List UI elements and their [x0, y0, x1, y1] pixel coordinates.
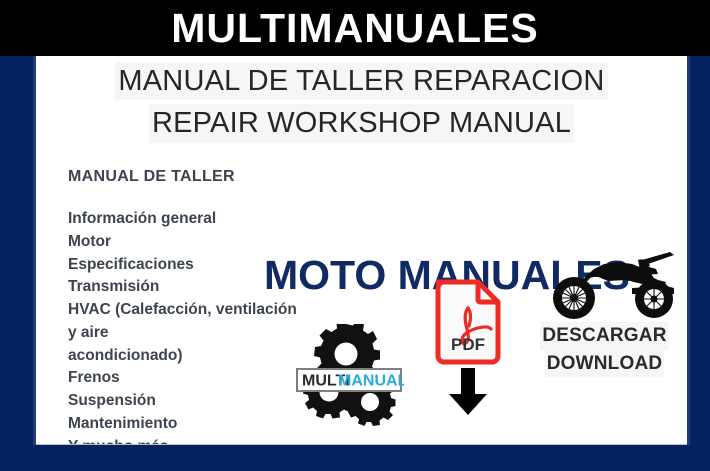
header-band: MULTIMANUALES — [0, 0, 710, 56]
section-heading: MANUAL DE TALLER — [68, 168, 235, 186]
logo-text-manuales: MANUALES — [338, 373, 404, 390]
motorcycle-silhouette-icon — [546, 246, 687, 320]
poster-root: MULTIMANUALES MANUAL DE TALLER REPARACIO… — [0, 0, 710, 471]
brand-title: MULTIMANUALES — [171, 8, 539, 49]
list-item: Información general — [68, 208, 298, 231]
content-card: MANUAL DE TALLER REPARACION REPAIR WORKS… — [36, 56, 687, 444]
download-label-es: DESCARGAR — [540, 322, 668, 350]
download-label-en: DOWNLOAD — [545, 350, 665, 378]
list-item: acondicionado) — [68, 345, 298, 368]
list-item: Suspensión — [68, 390, 298, 413]
frame-bottom-bar — [0, 445, 710, 471]
manual-title-es: MANUAL DE TALLER REPARACION — [115, 62, 607, 100]
list-item: Motor — [68, 231, 298, 254]
list-item: Y mucho más... — [68, 436, 298, 444]
feature-list: Información general Motor Especificacion… — [68, 208, 298, 444]
manual-title-block: MANUAL DE TALLER REPARACION REPAIR WORKS… — [36, 62, 687, 143]
frame-left-bar — [0, 56, 33, 445]
frame-right-divider — [687, 56, 690, 445]
pdf-file-icon[interactable]: PDF — [432, 278, 504, 366]
list-item: Mantenimiento — [68, 413, 298, 436]
download-text-block: DESCARGAR DOWNLOAD — [522, 322, 687, 377]
frame-right-bar — [690, 56, 710, 445]
list-item: Frenos — [68, 367, 298, 390]
manual-title-en: REPAIR WORKSHOP MANUAL — [149, 104, 574, 142]
download-arrow-icon[interactable] — [448, 368, 488, 416]
multimanuales-gear-logo: MULTI MANUALES — [294, 324, 404, 436]
pdf-label: PDF — [451, 335, 485, 354]
list-item: HVAC (Calefacción, ventilación y aire — [68, 299, 298, 345]
